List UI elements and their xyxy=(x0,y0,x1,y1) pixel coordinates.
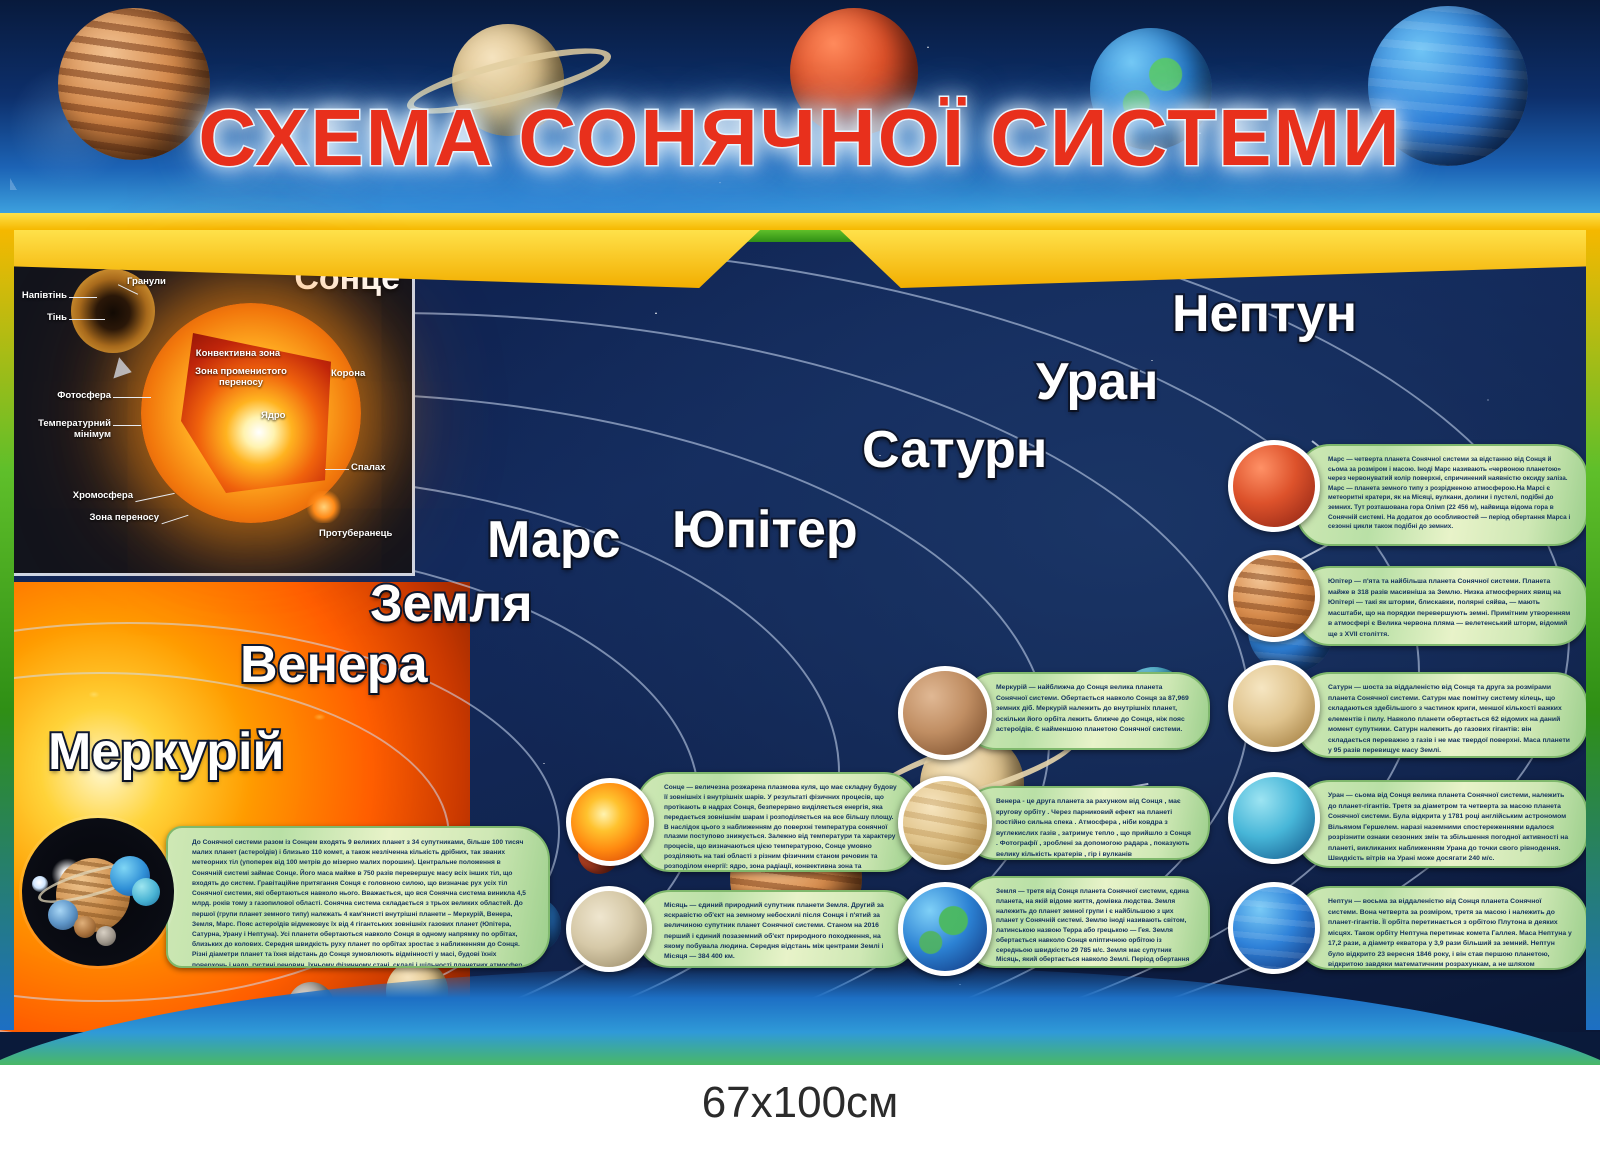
sun-label-core: Ядро xyxy=(261,411,285,422)
capsule-icon-moon xyxy=(566,886,652,972)
lead-photosphere xyxy=(113,397,151,398)
solar-system-group-image xyxy=(22,818,174,966)
sun-diagram-inset: Сонце Сонячна пляма Гранули Напівтінь Ті… xyxy=(10,238,415,576)
capsule-icon-saturn xyxy=(1228,660,1320,752)
capsule-neptune-text: Нептун — восьма за віддаленістю від Сонц… xyxy=(1328,897,1572,970)
prominence-icon xyxy=(307,491,341,523)
lead-penumbra xyxy=(69,297,97,298)
lead-temperature-minimum xyxy=(113,425,141,426)
planet-label-venus: Венера xyxy=(240,635,427,695)
sun-label-penumbra: Напівтінь xyxy=(15,291,67,302)
sun-label-chromosphere: Хромосфера xyxy=(57,491,133,502)
capsule-icon-uranus xyxy=(1228,772,1320,864)
capsule-moon: Місяць — єдиний природний супутник плане… xyxy=(636,890,918,968)
frame-border-left xyxy=(0,230,14,1030)
size-caption: 67x100см xyxy=(0,1078,1600,1128)
capsule-moon-text: Місяць — єдиний природний супутник плане… xyxy=(664,901,900,962)
sun-label-transfer-zone: Зона переносу xyxy=(71,513,159,524)
planet-label-uranus: Уран xyxy=(1036,352,1158,412)
planet-label-jupiter: Юпітер xyxy=(672,500,858,560)
capsule-solar-system: До Сонячної системи разом із Сонцем вход… xyxy=(166,826,550,968)
sun-label-umbra: Тінь xyxy=(15,313,67,324)
planet-label-saturn: Сатурн xyxy=(862,420,1047,480)
sun-label-radiative-zone: Зона променистого переносу xyxy=(193,367,289,389)
divider-yellow xyxy=(0,213,1600,230)
capsule-icon-venus xyxy=(898,776,992,870)
lead-flare xyxy=(325,469,349,470)
capsule-mars: Марс — четверта планета Сонячної системи… xyxy=(1296,444,1588,546)
capsule-icon-mars xyxy=(1228,440,1320,532)
sunspot-arrow-icon xyxy=(113,357,134,382)
capsule-venus-text: Венера - це друга планета за рахунком ві… xyxy=(996,797,1194,860)
capsule-mercury-text: Меркурій — найближча до Сонця велика пла… xyxy=(996,683,1194,736)
lead-chromosphere xyxy=(135,493,174,502)
capsule-mars-text: Марс — четверта планета Сонячної системи… xyxy=(1328,455,1572,532)
sun-label-corona: Корона xyxy=(331,369,365,380)
capsule-uranus-text: Уран — сьома від Сонця велика планета Со… xyxy=(1328,791,1572,865)
capsule-venus: Венера - це друга планета за рахунком ві… xyxy=(962,786,1210,860)
sun-label-photosphere: Фотосфера xyxy=(43,391,111,402)
sun-label-convective-zone: Конвективна зона xyxy=(173,349,303,360)
capsule-icon-neptune xyxy=(1228,882,1320,974)
sun-label-prominence: Протуберанець xyxy=(319,529,392,540)
capsule-icon-mercury xyxy=(898,666,992,760)
poster-banner: СХЕМА СОНЯЧНОЇ СИСТЕМИ xyxy=(0,0,1600,215)
capsule-icon-jupiter xyxy=(1228,550,1320,642)
sun-label-granules: Гранули xyxy=(127,277,166,288)
planet-label-earth: Земля xyxy=(370,574,533,634)
capsule-uranus: Уран — сьома від Сонця велика планета Со… xyxy=(1296,780,1588,868)
sun-label-flare: Спалах xyxy=(351,463,385,474)
capsule-solar-system-text: До Сонячної системи разом із Сонцем вход… xyxy=(192,838,532,968)
capsule-earth: Земля — третя від Сонця планета Сонячної… xyxy=(962,876,1210,968)
capsule-saturn: Сатурн — шоста за віддаленістю від Сонця… xyxy=(1296,672,1588,758)
page-title: СХЕМА СОНЯЧНОЇ СИСТЕМИ xyxy=(0,92,1600,184)
solar-system-poster: СХЕМА СОНЯЧНОЇ СИСТЕМИ Меркурій Венера З… xyxy=(0,0,1600,1065)
sun-label-temperature-minimum: Температурний мінімум xyxy=(29,419,111,441)
capsule-sun: Сонце — величезна розжарена плазмова кул… xyxy=(636,772,918,872)
capsule-neptune: Нептун — восьма за віддаленістю від Сонц… xyxy=(1296,886,1588,970)
planet-label-mercury: Меркурій xyxy=(48,722,284,782)
frame-border-right xyxy=(1586,230,1600,1030)
capsule-icon-earth xyxy=(898,882,992,976)
lead-umbra xyxy=(69,319,105,320)
capsule-icon-sun xyxy=(566,778,654,866)
capsule-sun-text: Сонце — величезна розжарена плазмова кул… xyxy=(664,783,900,872)
capsule-jupiter-text: Юпітер — п'ята та найбільша планета Соня… xyxy=(1328,577,1572,640)
lead-transfer-zone xyxy=(162,515,189,525)
capsule-mercury: Меркурій — найближча до Сонця велика пла… xyxy=(962,672,1210,750)
planet-label-neptune: Нептун xyxy=(1172,284,1357,344)
capsule-saturn-text: Сатурн — шоста за віддаленістю від Сонця… xyxy=(1328,683,1572,757)
capsule-jupiter: Юпітер — п'ята та найбільша планета Соня… xyxy=(1296,566,1588,646)
capsule-earth-text: Земля — третя від Сонця планета Сонячної… xyxy=(996,887,1194,968)
planet-label-mars: Марс xyxy=(487,510,621,570)
